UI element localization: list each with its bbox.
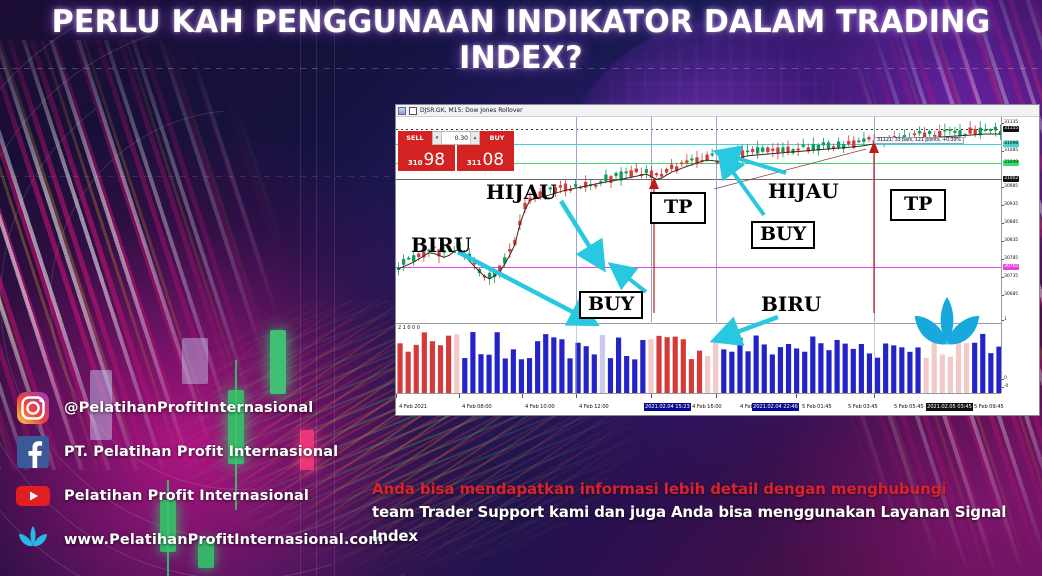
price-tick-3: 30935 [1004, 202, 1018, 207]
buy-button[interactable]: BUY [480, 131, 514, 145]
price-tick-2: 30985 [1004, 184, 1018, 189]
time-label-0: 4 Feb 2021 [399, 404, 427, 410]
title-line-1: PERLU KAH PENGGUNAAN INDIKATOR DALAM TRA… [37, 4, 1005, 40]
instagram-icon [16, 391, 50, 425]
annotation-buy-left: BUY [579, 291, 643, 319]
social-label-website: www.PelatihanProfitInternasional.com [64, 532, 383, 548]
social-label-facebook: PT. Pelatihan Profit Internasional [64, 444, 338, 460]
time-label-6: 5 Feb 01:45 [802, 404, 832, 410]
price-tick-0: 31135 [1004, 120, 1018, 125]
lotus-logo-icon [899, 295, 995, 367]
price-badge-4: 30765 [1003, 264, 1019, 270]
volume-decrement-button[interactable]: ▾ [433, 132, 442, 144]
indicator-tick-1: 1 [1004, 317, 1007, 322]
price-badge-3: 31002 [1003, 176, 1019, 182]
time-label-2: 4 Feb 10:00 [525, 404, 555, 410]
volume-increment-button[interactable]: ▴ [470, 132, 479, 144]
chart-window-icon [398, 107, 406, 115]
annotation-hijau-right: HIJAU [768, 179, 839, 203]
time-axis: 4 Feb 2021 4 Feb 08:00 4 Feb 10:00 4 Feb… [396, 393, 1001, 415]
indicator-label: 21000 [398, 325, 421, 331]
time-label-8: 5 Feb 05:45 [894, 404, 924, 410]
time-label-4: 4 Feb 16:00 [692, 404, 722, 410]
price-badge-1: 31098 [1003, 141, 1019, 147]
ind-gridline-v1 [576, 324, 577, 393]
website-lotus-icon [16, 523, 50, 557]
social-item-youtube[interactable]: Pelatihan Profit Internasional [16, 476, 396, 516]
price-badge-2: 31049 [1003, 160, 1019, 166]
facebook-icon [16, 435, 50, 469]
annotation-buy-right: BUY [751, 221, 815, 249]
indicator-tick-0: 0 [1004, 376, 1007, 381]
time-highlight-3: 2021.02.05 03:45 [926, 403, 973, 411]
price-axis: 31155 31098 31049 31002 30765 31135 3108… [1001, 117, 1039, 393]
chart-plot-area[interactable]: 21000 SELL [396, 117, 1001, 393]
price-tick-5: 30835 [1004, 238, 1018, 243]
bars-icon [409, 107, 417, 115]
social-item-facebook[interactable]: PT. Pelatihan Profit Internasional [16, 432, 396, 472]
page-title: PERLU KAH PENGGUNAAN INDIKATOR DALAM TRA… [0, 4, 1042, 76]
buy-price-value: 08 [482, 152, 504, 169]
annotation-tp-right: TP [890, 189, 946, 221]
sell-price-value: 98 [423, 152, 445, 169]
footer-line-1: Anda bisa mendapatkan informasi lebih de… [372, 478, 1038, 500]
buy-price-prefix: 311 [467, 159, 482, 167]
volume-field[interactable]: ▾ 0.30 ▴ [432, 131, 480, 145]
time-highlight-1: 2021.02.04 22:46 [752, 403, 799, 411]
time-label-7: 5 Feb 03:45 [848, 404, 878, 410]
order-panel[interactable]: SELL ▾ 0.30 ▴ BUY 310 98 311 08 [398, 131, 514, 171]
price-tick-7: 30735 [1004, 274, 1018, 279]
time-label-3: 4 Feb 12:00 [579, 404, 609, 410]
sell-button[interactable]: SELL [398, 131, 432, 145]
price-tick-1: 31085 [1004, 148, 1018, 153]
order-panel-prices[interactable]: 310 98 311 08 [398, 145, 514, 171]
chart-title-bar: DJSR.GK, M15: Dow Jones Rollover [396, 105, 1039, 117]
indicator-tick-neg: -0 [1004, 384, 1008, 389]
annotation-biru-right: BIRU [761, 292, 821, 316]
footer-message: Anda bisa mendapatkan informasi lebih de… [372, 478, 1038, 548]
sell-price-prefix: 310 [408, 159, 423, 167]
price-tick-6: 30785 [1004, 256, 1018, 261]
youtube-icon [16, 479, 50, 513]
buy-price[interactable]: 311 08 [455, 145, 514, 171]
trade-info-tooltip: 31121; 33 bars, 121 points, +0.39% [874, 137, 964, 144]
annotation-tp-left: TP [650, 192, 706, 224]
social-item-instagram[interactable]: @PelatihanProfitInternasional [16, 388, 396, 428]
footer-line-2: team Trader Support kami dan juga Anda b… [372, 500, 1038, 548]
annotation-hijau-left: HIJAU [486, 180, 557, 204]
chart-symbol-label: DJSR.GK, M15: Dow Jones Rollover [420, 107, 523, 114]
price-badge-0: 31155 [1003, 126, 1019, 132]
trading-chart-window[interactable]: DJSR.GK, M15: Dow Jones Rollover [395, 104, 1040, 416]
volume-value[interactable]: 0.30 [442, 135, 470, 142]
time-label-1: 4 Feb 08:00 [462, 404, 492, 410]
order-panel-controls[interactable]: SELL ▾ 0.30 ▴ BUY [398, 131, 514, 145]
price-tick-4: 30885 [1004, 220, 1018, 225]
social-label-instagram: @PelatihanProfitInternasional [64, 400, 313, 416]
ind-gridline-v2 [874, 324, 875, 393]
social-item-website[interactable]: www.PelatihanProfitInternasional.com [16, 520, 396, 560]
price-tick-8: 30685 [1004, 292, 1018, 297]
title-line-2: INDEX? [37, 40, 1005, 76]
sell-price[interactable]: 310 98 [398, 145, 455, 171]
annotation-biru-left: BIRU [411, 233, 471, 257]
social-label-youtube: Pelatihan Profit Internasional [64, 488, 309, 504]
time-highlight-0: 2021.02.04 15:23 [644, 403, 691, 411]
social-links: @PelatihanProfitInternasional PT. Pelati… [16, 388, 396, 564]
time-label-9: 5 Feb 09:45 [974, 404, 1004, 410]
